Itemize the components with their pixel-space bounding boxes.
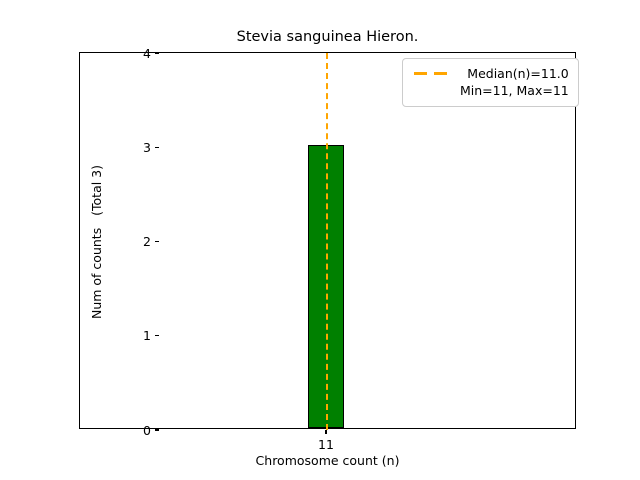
y-tick-label: 0 xyxy=(143,422,151,439)
y-tick-mark xyxy=(155,335,159,336)
median-line xyxy=(326,53,328,430)
legend-entry-minmax: Min=11, Max=11 xyxy=(460,82,569,99)
x-tick-label: 11 xyxy=(296,436,356,453)
y-tick-mark xyxy=(155,52,159,53)
y-tick-label: 3 xyxy=(143,139,151,156)
y-axis-label: Num of counts (Total 3) xyxy=(89,62,105,422)
y-tick-label: 4 xyxy=(143,45,151,62)
y-tick-mark xyxy=(155,147,159,148)
plot-area: Num of counts (Total 3) 4 3 2 1 0 11 xyxy=(79,52,576,429)
legend-text-group: Median(n)=11.0 Min=11, Max=11 xyxy=(460,65,569,99)
page-title: Stevia sanguinea Hieron. xyxy=(79,28,576,46)
legend-dash-segment xyxy=(434,72,447,75)
x-axis-label: Chromosome count (n) xyxy=(79,452,576,469)
y-tick-label: 1 xyxy=(143,327,151,344)
chart-figure: Stevia sanguinea Hieron. Num of counts (… xyxy=(0,0,640,480)
legend-median-line-icon xyxy=(412,65,452,82)
legend-dash-segment xyxy=(414,72,427,75)
legend: Median(n)=11.0 Min=11, Max=11 xyxy=(402,58,579,107)
legend-entry-median: Median(n)=11.0 xyxy=(467,65,568,82)
y-tick-mark xyxy=(155,429,159,430)
y-tick-label: 2 xyxy=(143,233,151,250)
y-tick-mark xyxy=(155,241,159,242)
x-tick-mark xyxy=(325,430,326,434)
